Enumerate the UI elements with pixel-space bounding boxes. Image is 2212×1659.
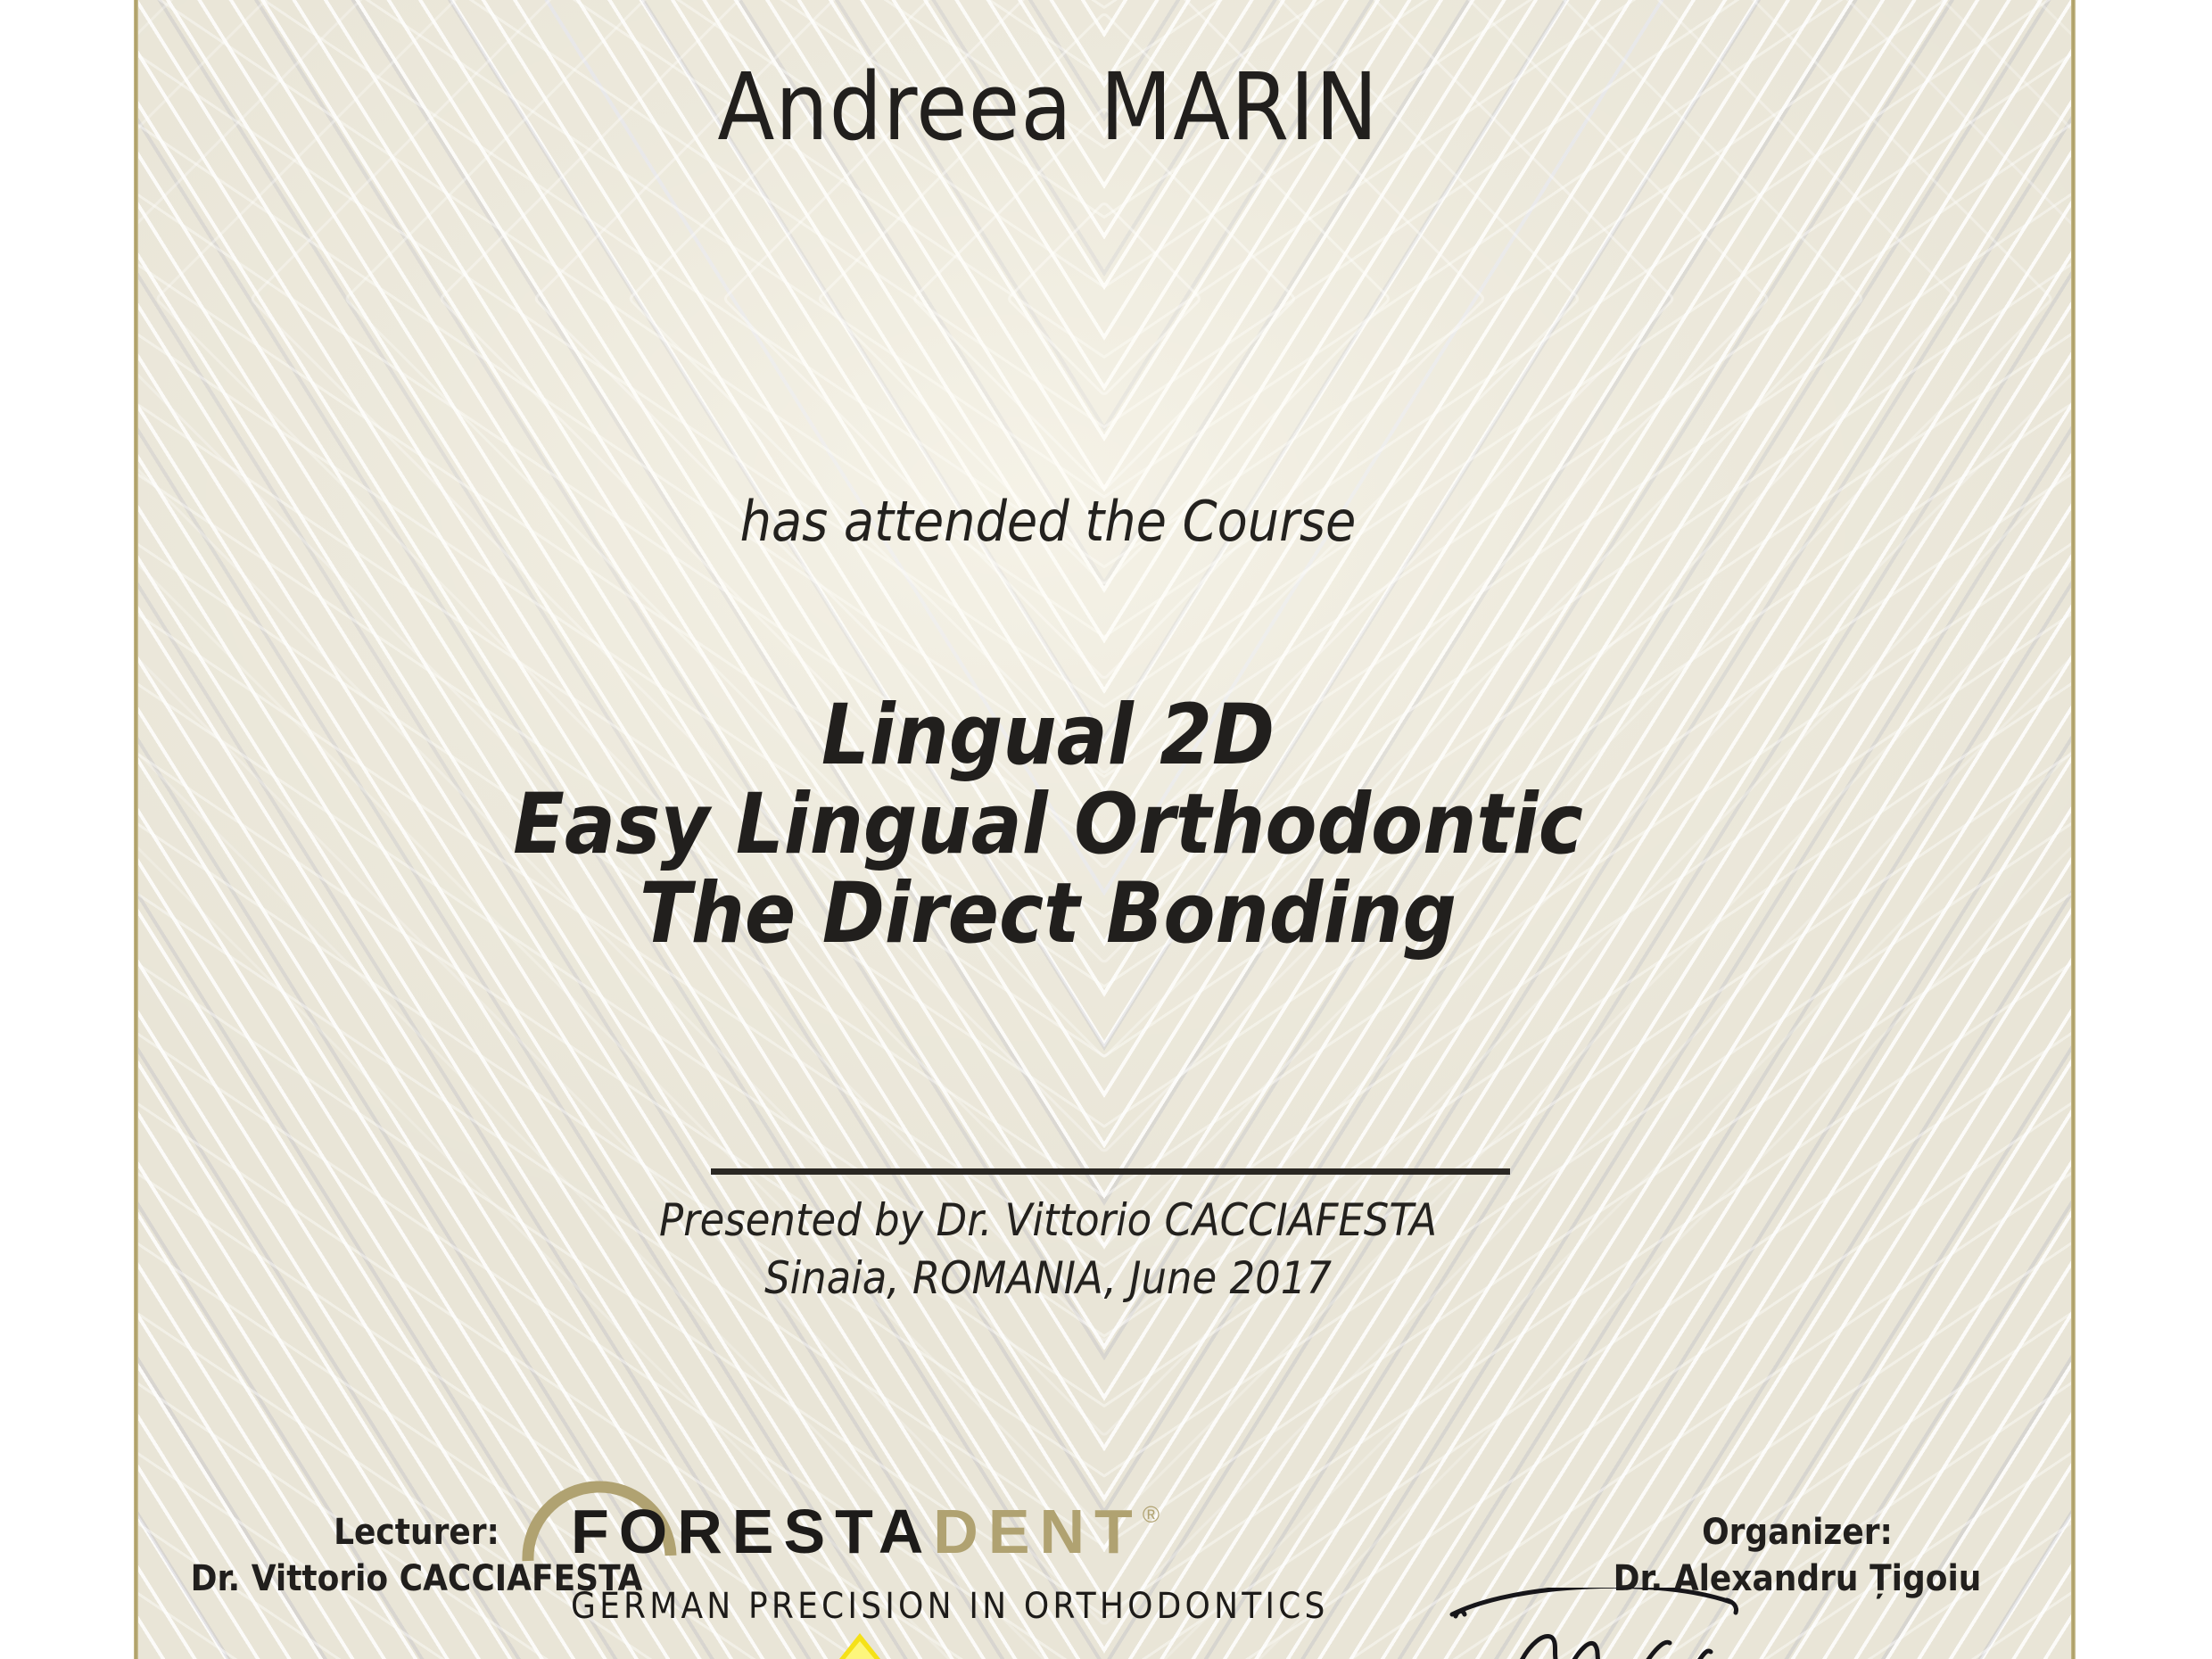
course-title-line: The Direct Bonding [138, 872, 1958, 956]
course-title-line: Lingual 2D [138, 694, 1958, 778]
attended-statement: has attended the Course [138, 489, 1958, 554]
presented-by-line: Presented by Dr. Vittorio CACCIAFESTA [138, 1192, 1958, 1250]
yellow-seal-highlight-icon [835, 1641, 885, 1659]
location-date-line: Sinaia, ROMANIA, June 2017 [138, 1250, 1958, 1308]
logo-word-foresta: FORESTA [571, 1497, 933, 1566]
course-title-line: Easy Lingual Orthodontic [138, 783, 1958, 867]
logo-tagline: GERMAN PRECISION IN ORTHODONTICS [571, 1586, 1284, 1627]
border-rule-right [2071, 0, 2076, 1659]
certificate-content: Andreea MARIN has attended the Course Li… [138, 0, 2071, 1659]
forestadent-logo: FORESTADENT® GERMAN PRECISION IN ORTHODO… [508, 1445, 1311, 1659]
logo-wordmark: FORESTADENT® [571, 1500, 1302, 1563]
presentation-details: Presented by Dr. Vittorio CACCIAFESTA Si… [138, 1192, 1958, 1308]
recipient-name: Andreea MARIN [138, 55, 1958, 159]
title-divider-rule [711, 1168, 1510, 1175]
registered-trademark-icon: ® [1143, 1501, 1160, 1528]
logo-word-dent: DENT [933, 1497, 1143, 1566]
organizer-block: Organizer: Dr. Alexandru Țigoiu [1530, 1509, 2065, 1602]
course-title: Lingual 2D Easy Lingual Orthodontic The … [138, 694, 1958, 962]
organizer-name: Dr. Alexandru Țigoiu [1530, 1556, 2065, 1602]
organizer-label: Organizer: [1530, 1509, 2065, 1556]
certificate-page: Andreea MARIN has attended the Course Li… [0, 0, 2212, 1659]
